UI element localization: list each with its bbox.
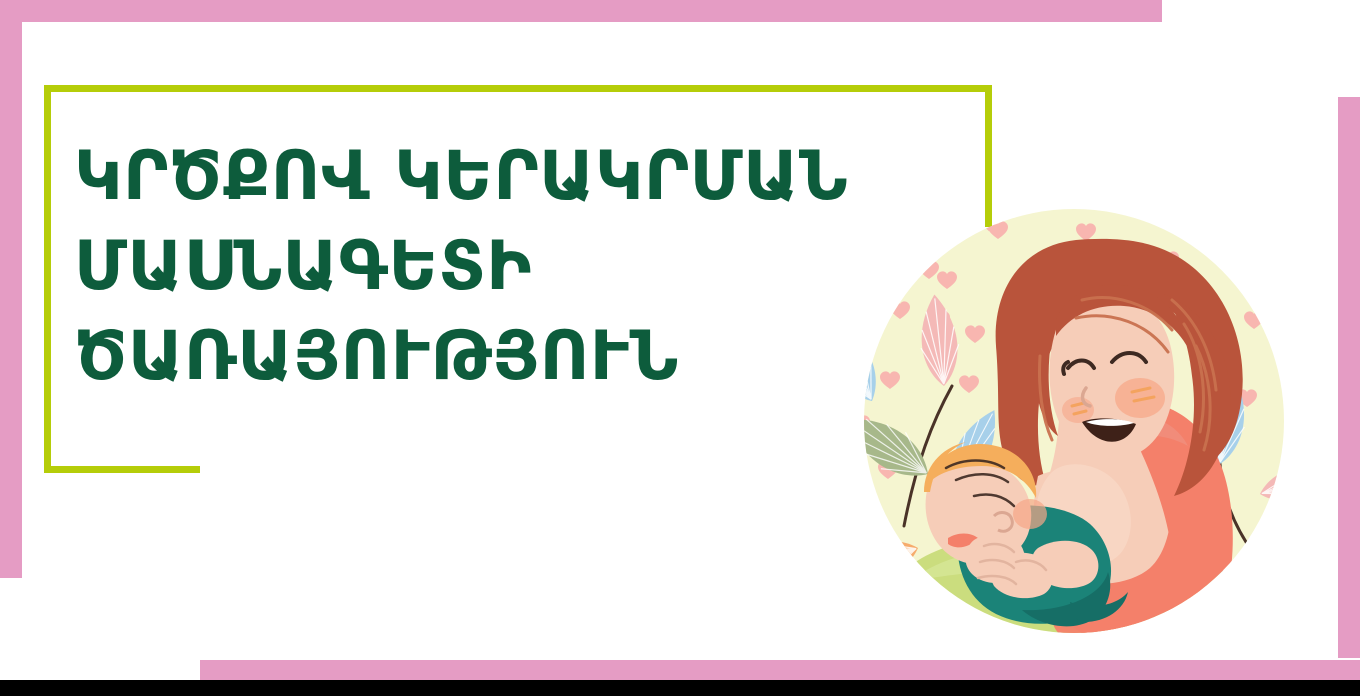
left-pink-bar [0, 0, 22, 578]
top-pink-bar [0, 0, 1162, 22]
right-pink-bar [1338, 97, 1360, 658]
bottom-pink-bar [200, 660, 1360, 680]
mother-baby-illustration [824, 196, 1334, 646]
frame-bottom-line [44, 466, 200, 473]
slide-canvas: ԿՐԾՔՈՎ ԿԵՐԱԿՐՄԱՆ ՄԱՍՆԱԳԵՏԻ ԾԱՌԱՅՈՒԹՅՈՒՆ [0, 0, 1360, 680]
frame-top-line [44, 85, 992, 92]
frame-left-line [44, 85, 51, 473]
